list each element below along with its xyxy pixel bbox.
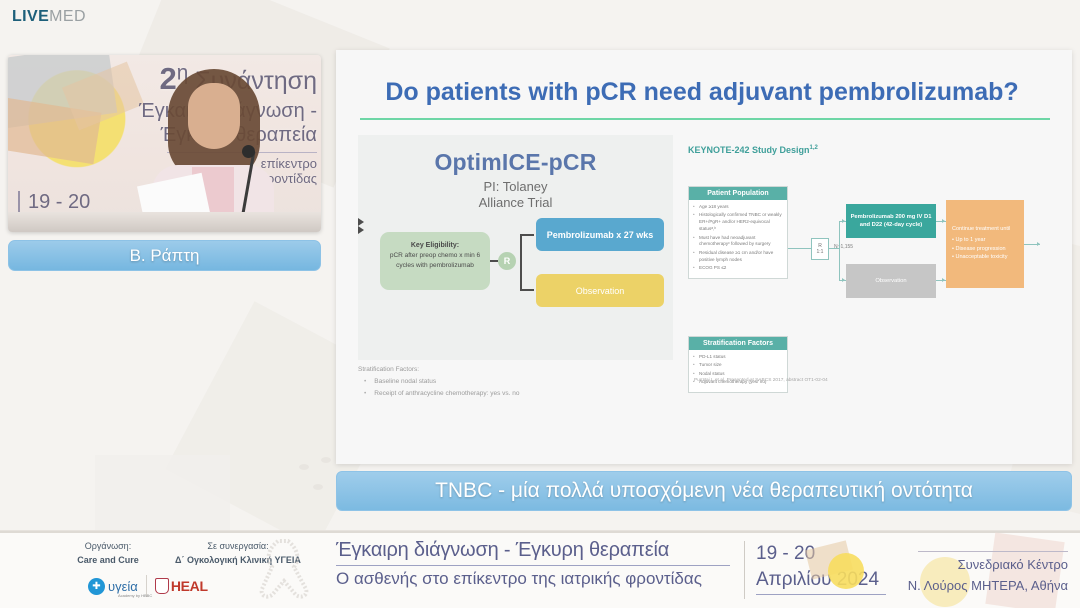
presentation-slide[interactable]: Do patients with pCR need adjuvant pembr… (336, 50, 1072, 464)
keynote-title-text: KEYNOTE-242 Study Design (688, 145, 810, 155)
session-caption-bar: TNBC - μία πολλά υποσχόμενη νέα θεραπευτ… (336, 471, 1072, 511)
event-date-rule (756, 594, 886, 595)
arm-pembrolizumab-box: Pembrolizumab x 27 wks (536, 218, 664, 251)
connector-line-3 (520, 234, 534, 236)
ygeia-label: υγεία (108, 579, 138, 594)
optimice-pi: PI: Tolaney (358, 179, 673, 194)
keynote-arrow-4 (942, 278, 945, 282)
speaker-name-bar: Β. Ράπτη (8, 240, 321, 271)
keynote-sample-size: N~1,155 (834, 244, 853, 250)
keynote-connector-5 (839, 248, 840, 281)
list-item: Tumor size (693, 362, 782, 369)
continue-item: • Up to 1 year (952, 236, 1018, 245)
list-item: PD-L1 status (693, 354, 782, 361)
livemed-logo[interactable]: LIVEMED (12, 8, 86, 26)
footer-top-rule (0, 531, 1080, 533)
video-frame: 2η Συνάντηση Έγκαιρη διάγνωση - Έγκυρη θ… (8, 55, 321, 232)
connector-line-4 (520, 260, 522, 291)
stratification-factors-box: Stratification Factors PD-L1 status Tumo… (688, 336, 788, 393)
logo-live-text: LIVE (12, 8, 49, 25)
randomization-node: R (498, 252, 516, 270)
arrow-head-1 (358, 218, 364, 226)
podium (8, 212, 321, 232)
key-eligibility-text: pCR after preop chemo x min 6 cycles wit… (390, 252, 480, 268)
organizer-label: Οργάνωση: (58, 540, 158, 554)
backdrop-date: 19 - 20 (18, 191, 90, 214)
continue-item: • Disease progression (952, 245, 1018, 254)
keynote-arrow-1 (842, 219, 845, 223)
continue-item-text: Unacceptable toxicity (955, 254, 1007, 260)
arm-observation-box: Observation (536, 274, 664, 307)
footer-divider (744, 541, 745, 599)
heal-sublabel: Academy by HBBC (118, 593, 152, 598)
heal-label: HEAL (171, 578, 208, 594)
continue-item: • Unacceptable toxicity (952, 253, 1018, 262)
keynote-arrow-5 (1037, 242, 1040, 246)
patient-population-list: Age ≥18 years Histologically confirmed T… (689, 200, 787, 278)
keynote-ratio: 1:1 (817, 249, 824, 255)
ygeia-logo[interactable]: ✚ υγεία (88, 578, 138, 595)
strat-item: Baseline nodal status (364, 376, 678, 387)
speaker-video-player[interactable]: 2η Συνάντηση Έγκαιρη διάγνωση - Έγκυρη θ… (8, 55, 321, 232)
venue-block: Συνεδριακό Κέντρο Ν. Λούρος ΜΗΤΕΡΑ, Αθήν… (908, 551, 1068, 597)
arrow-head-2 (358, 226, 364, 234)
event-footer: Οργάνωση: Care and Cure Σε συνεργασία: Δ… (0, 530, 1080, 608)
connector-line-2 (520, 234, 522, 262)
keynote-title-sup: 1,2 (810, 145, 818, 151)
optimice-title: OptimICE-pCR (358, 149, 673, 176)
keynote-panel: KEYNOTE-242 Study Design1,2 Patient Popu… (688, 145, 1048, 385)
keynote-randomization-node: R 1:1 (811, 238, 829, 260)
key-eligibility-box: Key Eligibility: pCR after preop chemo x… (380, 232, 490, 290)
venue-line1: Συνεδριακό Κέντρο (908, 555, 1068, 576)
list-item: Nodal status (693, 371, 782, 378)
keynote-connector-1 (788, 248, 811, 249)
keynote-arm-pembrolizumab: Pembrolizumab 200 mg IV D1 and D22 (42-d… (846, 204, 936, 238)
microphone-head-icon (242, 145, 255, 158)
continue-item-text: Up to 1 year (955, 237, 985, 243)
strat-heading: Stratification Factors: (358, 364, 678, 375)
stratification-list: PD-L1 status Tumor size Nodal status Adj… (689, 350, 787, 392)
event-subtitle: Ο ασθενής στο επίκεντρο της ιατρικής φρο… (336, 569, 734, 589)
optimice-diagram: Key Eligibility: pCR after preop chemo x… (358, 218, 673, 318)
organizer-block: Οργάνωση: Care and Cure (58, 540, 158, 567)
optimice-stratification: Stratification Factors: Baseline nodal s… (358, 364, 678, 399)
keynote-arm-observation: Observation (846, 264, 936, 298)
patient-population-box: Patient Population Age ≥18 years Histolo… (688, 186, 788, 279)
connector-line-1 (490, 260, 498, 262)
keynote-arrow-2 (842, 278, 845, 282)
patient-population-header: Patient Population (689, 187, 787, 200)
keynote-connector-3 (839, 221, 840, 249)
venue-line2: Ν. Λούρος ΜΗΤΕΡΑ, Αθήνα (908, 576, 1068, 597)
keynote-citation: Pusztai L et al. Presented at SABCS 2017… (694, 378, 828, 383)
ygeia-mark-icon: ✚ (88, 578, 105, 595)
list-item: Residual disease ≥1 cm and/or have posit… (693, 250, 782, 264)
speaker-face (188, 83, 240, 149)
event-title: Έγκαιρη διάγνωση - Έγκυρη θεραπεία (336, 539, 734, 562)
heal-logo[interactable]: HEAL (155, 578, 208, 594)
keynote-arrow-3 (942, 219, 945, 223)
list-item: Must have had neoadjuvant chemotherapyᶜ … (693, 235, 782, 249)
continue-treatment-box: Continue treatment until • Up to 1 year … (946, 200, 1024, 288)
list-item: Age ≥18 years (693, 204, 782, 211)
optimice-panel: OptimICE-pCR PI: Tolaney Alliance Trial … (358, 135, 673, 360)
optimice-trial: Alliance Trial (358, 195, 673, 210)
awareness-ribbon-icon (232, 537, 324, 607)
keynote-title: KEYNOTE-242 Study Design1,2 (688, 145, 1048, 155)
strat-item: Receipt of anthracycline chemotherapy: y… (364, 388, 678, 399)
key-eligibility-title: Key Eligibility: (411, 242, 459, 249)
connector-line-5 (520, 289, 534, 291)
organizer-name: Care and Cure (77, 555, 139, 565)
list-item: ECOG PS ≤2 (693, 265, 782, 272)
sun-icon (828, 553, 864, 589)
stratification-header: Stratification Factors (689, 337, 787, 350)
session-caption-text: TNBC - μία πολλά υποσχόμενη νέα θεραπευτ… (435, 479, 973, 503)
event-title-rule (336, 565, 730, 566)
continue-treatment-header: Continue treatment until (952, 225, 1018, 234)
keynote-diagram: Patient Population Age ≥18 years Histolo… (688, 182, 1048, 372)
continue-item-text: Disease progression (955, 246, 1005, 252)
partner-logos: ✚ υγεία HEAL (88, 571, 228, 601)
speaker-name: Β. Ράπτη (130, 246, 200, 266)
venue-rule (918, 551, 1068, 552)
slide-title-underline (360, 118, 1050, 120)
slide-title: Do patients with pCR need adjuvant pembr… (372, 78, 1032, 107)
logo-med-text: MED (49, 8, 86, 25)
shield-icon (155, 578, 169, 594)
event-title-block: Έγκαιρη διάγνωση - Έγκυρη θεραπεία Ο ασθ… (336, 539, 734, 589)
speaker-figure (148, 69, 276, 232)
list-item: Histologically confirmed TNBC or weakly … (693, 212, 782, 233)
